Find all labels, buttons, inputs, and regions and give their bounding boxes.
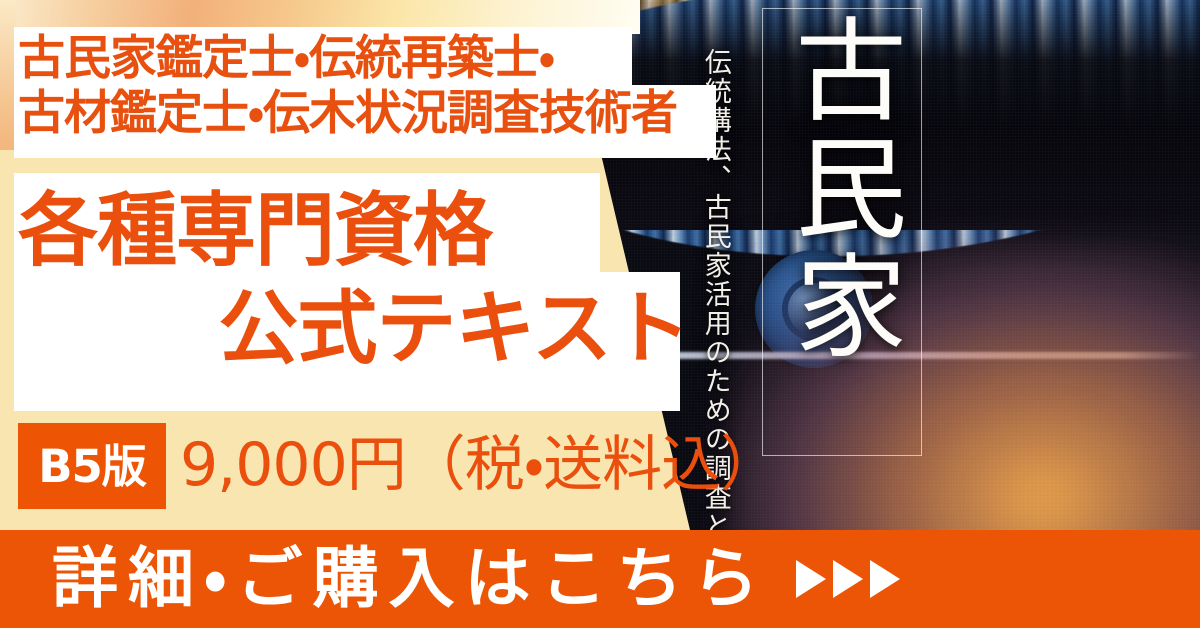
product-headline: 各種専門資格 公式テキスト	[18, 182, 698, 377]
product-line-2: 公式テキスト	[18, 280, 698, 378]
size-badge-label: B5版	[38, 444, 146, 489]
book-title: 古民家	[775, 12, 907, 366]
triangle-right-icon	[870, 560, 900, 598]
triangle-right-icon	[833, 560, 863, 598]
product-line-1: 各種専門資格	[18, 184, 492, 277]
size-badge: B5版	[18, 423, 166, 509]
triangle-right-icon	[796, 560, 826, 598]
price-label: 9,000円（税・送料込）	[180, 428, 779, 503]
cta-bar[interactable]: 詳細・ご購入はこちら	[0, 530, 1200, 628]
cta-label: 詳細・ご購入はこちら	[52, 546, 768, 612]
qualifications-headline: 古民家鑑定士・伝統再築士・ 古材鑑定士・伝木状況調査技術者	[18, 31, 718, 142]
promo-banner: 古民家 伝統構法、古民家活用のための調査と再生の 古民家鑑定士・伝統再築士・ 古…	[0, 0, 1200, 628]
qualifications-line-1: 古民家鑑定士・伝統再築士・	[18, 31, 554, 86]
cta-arrows	[796, 560, 900, 598]
qualifications-line-2: 古材鑑定士・伝木状況調査技術者	[18, 86, 718, 141]
